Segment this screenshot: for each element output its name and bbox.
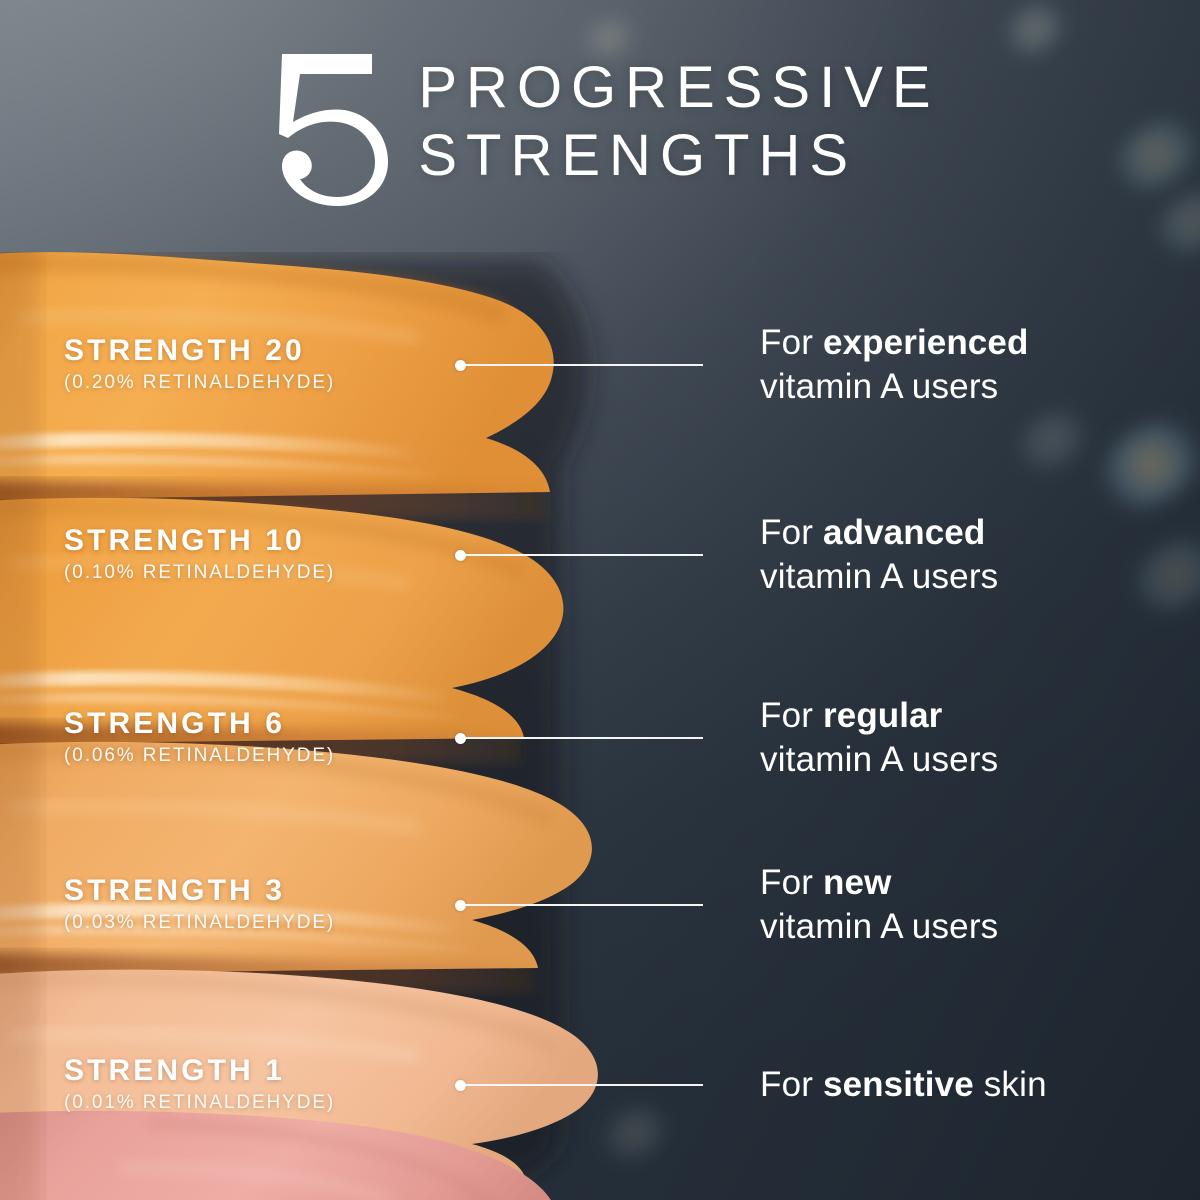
callout-emphasis: new (823, 863, 891, 902)
callout-prefix: For (760, 696, 813, 735)
title-line-2: STRENGTHS (418, 122, 939, 190)
strength-concentration: (0.03% RETINALDEHYDE) (64, 911, 335, 935)
callout-line-1: For experienced (760, 321, 1028, 365)
strength-label-block: STRENGTH 6(0.06% RETINALDEHYDE) (64, 708, 335, 768)
callout-line-1: For sensitive skin (760, 1063, 1047, 1107)
callout-text: For newvitamin A users (760, 861, 998, 949)
callout-suffix: skin (984, 1065, 1047, 1104)
strength-label-block: STRENGTH 20(0.20% RETINALDEHYDE) (64, 335, 335, 395)
callout-line-2: vitamin A users (760, 905, 998, 949)
callout-text: For sensitive skin (760, 1063, 1047, 1107)
infographic-canvas: PROGRESSIVE STRENGTHS STRENGTH 20(0.20% … (0, 0, 1200, 1200)
strength-concentration: (0.01% RETINALDEHYDE) (64, 1091, 335, 1115)
numeral-five (260, 48, 392, 208)
strength-title: STRENGTH 20 (64, 335, 335, 367)
callout-prefix: For (760, 1065, 813, 1104)
callout-text: For regularvitamin A users (760, 694, 998, 782)
strength-concentration: (0.06% RETINALDEHYDE) (64, 744, 335, 768)
strength-concentration: (0.20% RETINALDEHYDE) (64, 371, 335, 395)
strength-title: STRENGTH 1 (64, 1055, 335, 1087)
callout-line-1: For regular (760, 694, 998, 738)
callout-prefix: For (760, 513, 813, 552)
callout-line-1: For new (760, 861, 998, 905)
strength-title: STRENGTH 6 (64, 708, 335, 740)
callout-prefix: For (760, 863, 813, 902)
callout-emphasis: experienced (823, 323, 1028, 362)
strength-label-block: STRENGTH 1(0.01% RETINALDEHYDE) (64, 1055, 335, 1115)
callout-text: For experiencedvitamin A users (760, 321, 1028, 409)
callout-line-2: vitamin A users (760, 365, 1028, 409)
strength-label-block: STRENGTH 3(0.03% RETINALDEHYDE) (64, 875, 335, 935)
callout-emphasis: regular (823, 696, 942, 735)
callout-line-1: For advanced (760, 511, 998, 555)
callout-prefix: For (760, 323, 813, 362)
title-line-1: PROGRESSIVE (418, 54, 939, 122)
callout-line-2: vitamin A users (760, 555, 998, 599)
page-title: PROGRESSIVE STRENGTHS (0, 46, 1200, 208)
callout-emphasis: advanced (823, 513, 985, 552)
strength-concentration: (0.10% RETINALDEHYDE) (64, 561, 335, 585)
callout-text: For advancedvitamin A users (760, 511, 998, 599)
strength-label-block: STRENGTH 10(0.10% RETINALDEHYDE) (64, 525, 335, 585)
strength-title: STRENGTH 10 (64, 525, 335, 557)
title-text: PROGRESSIVE STRENGTHS (418, 46, 939, 191)
strength-title: STRENGTH 3 (64, 875, 335, 907)
callout-emphasis: sensitive (823, 1065, 974, 1104)
callout-line-2: vitamin A users (760, 738, 998, 782)
